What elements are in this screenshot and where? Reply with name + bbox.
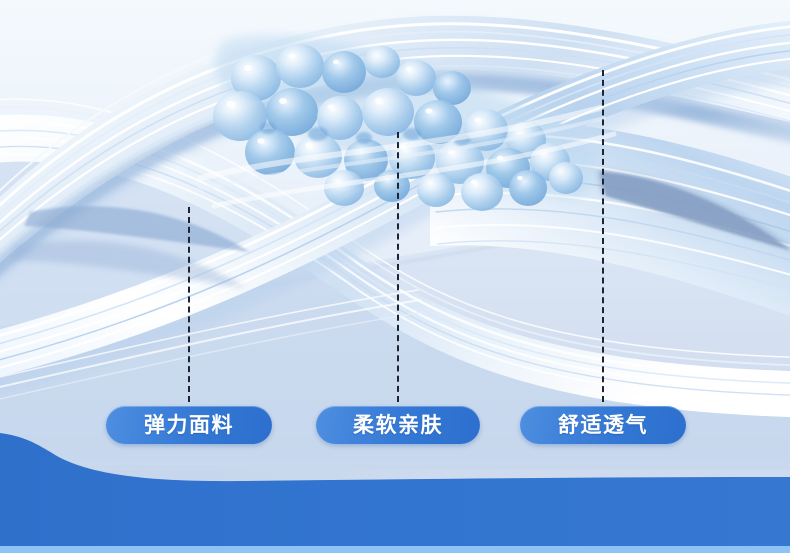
leader-line-comfortable-breathable xyxy=(602,70,604,402)
feature-banner: 弹力面料 柔软亲肤 舒适透气 xyxy=(0,0,790,553)
feature-pill-label: 舒适透气 xyxy=(558,415,648,436)
bottom-sweep-band xyxy=(0,433,790,553)
feature-pill-soft-skin-friendly[interactable]: 柔软亲肤 xyxy=(316,406,480,444)
feature-pill-elastic-fabric[interactable]: 弹力面料 xyxy=(106,406,272,444)
feature-pill-label: 柔软亲肤 xyxy=(353,415,443,436)
feature-pill-comfortable-breathable[interactable]: 舒适透气 xyxy=(520,406,686,444)
leader-line-soft-skin-friendly xyxy=(397,132,399,402)
bottom-accent-rule xyxy=(0,546,790,553)
fabric-fibre-photo xyxy=(0,0,790,470)
leader-line-elastic-fabric xyxy=(188,207,190,402)
feature-pill-label: 弹力面料 xyxy=(144,415,234,436)
